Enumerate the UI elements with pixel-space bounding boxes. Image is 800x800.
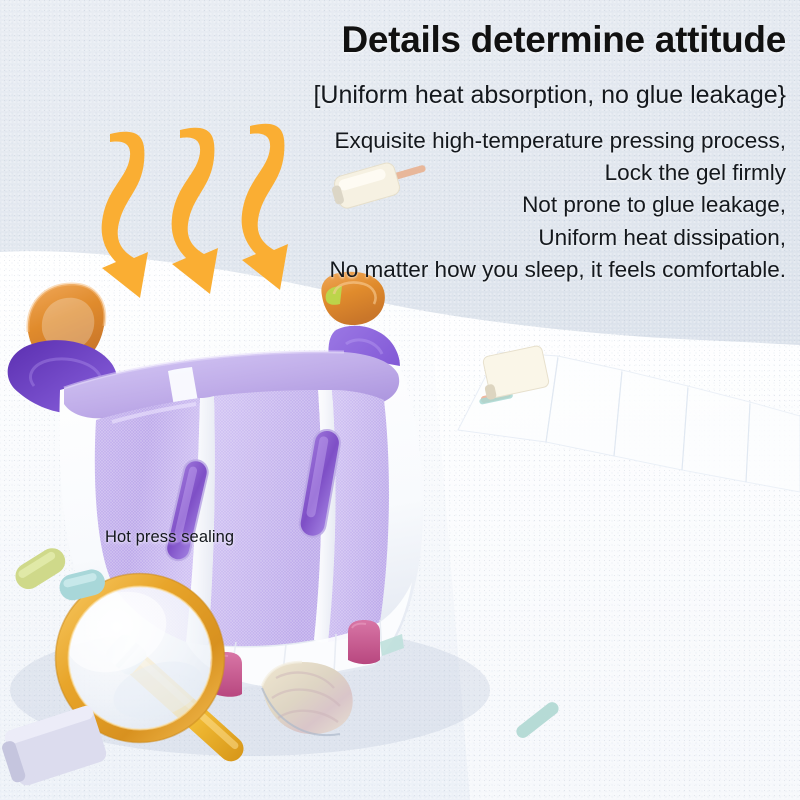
page-title: Details determine attitude (0, 20, 786, 61)
feature-line: No matter how you sleep, it feels comfor… (0, 254, 786, 286)
page-subtitle: [Uniform heat absorption, no glue leakag… (0, 80, 786, 111)
mat-panel-right (328, 390, 389, 642)
mint-sliver-prop (505, 690, 575, 750)
mat-tab-right (348, 620, 380, 664)
feature-line: Exquisite high-temperature pressing proc… (0, 125, 786, 157)
feature-line: Not prone to glue leakage, (0, 189, 786, 221)
feature-line: Uniform heat dissipation, (0, 222, 786, 254)
feature-list: Exquisite high-temperature pressing proc… (0, 125, 786, 286)
hot-press-sealing-label: Hot press sealing (105, 528, 234, 547)
foam-block-prop (0, 690, 130, 800)
product-detail-image: Details determine attitude [Uniform heat… (0, 0, 800, 800)
feature-line: Lock the gel firmly (0, 157, 786, 189)
